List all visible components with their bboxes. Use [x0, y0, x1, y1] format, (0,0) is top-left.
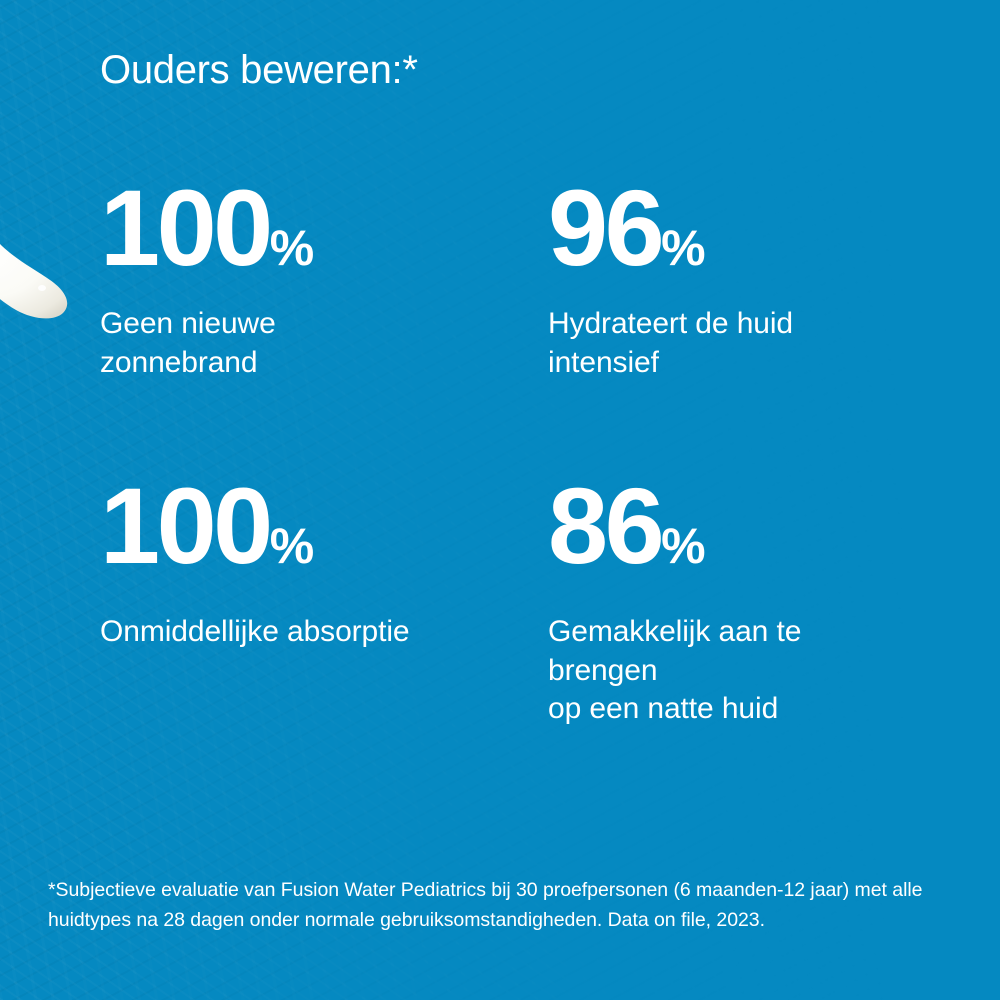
stat-label: Hydrateert de huid intensief — [548, 305, 968, 382]
stat-number: 100 — [100, 167, 270, 288]
stat-value: 86% — [548, 476, 968, 575]
stat-unit: % — [270, 518, 313, 574]
stat-label: Gemakkelijk aan te brengen op een natte … — [548, 613, 968, 728]
cream-smear-icon — [0, 218, 78, 322]
stat-value: 96% — [548, 178, 968, 277]
footnote-disclaimer: *Subjectieve evaluatie van Fusion Water … — [48, 876, 948, 935]
stat-unit: % — [661, 518, 704, 574]
stat-number: 86 — [548, 465, 661, 586]
stat-value: 100% — [100, 476, 520, 575]
stat-block-bottom-right: 86% Gemakkelijk aan te brengen op een na… — [548, 476, 968, 729]
promo-poster: Ouders beweren:* 100% Geen nieuwe zonneb… — [0, 0, 1000, 1000]
stat-number: 96 — [548, 167, 661, 288]
stat-unit: % — [661, 220, 704, 276]
stat-label: Geen nieuwe zonnebrand — [100, 305, 520, 382]
stat-block-bottom-left: 100% Onmiddellijke absorptie — [100, 476, 520, 652]
stat-block-top-right: 96% Hydrateert de huid intensief — [548, 178, 968, 382]
stat-number: 100 — [100, 465, 270, 586]
stat-block-top-left: 100% Geen nieuwe zonnebrand — [100, 178, 520, 382]
stat-unit: % — [270, 220, 313, 276]
stat-value: 100% — [100, 178, 520, 277]
stat-label: Onmiddellijke absorptie — [100, 613, 520, 651]
page-title: Ouders beweren:* — [100, 47, 418, 93]
